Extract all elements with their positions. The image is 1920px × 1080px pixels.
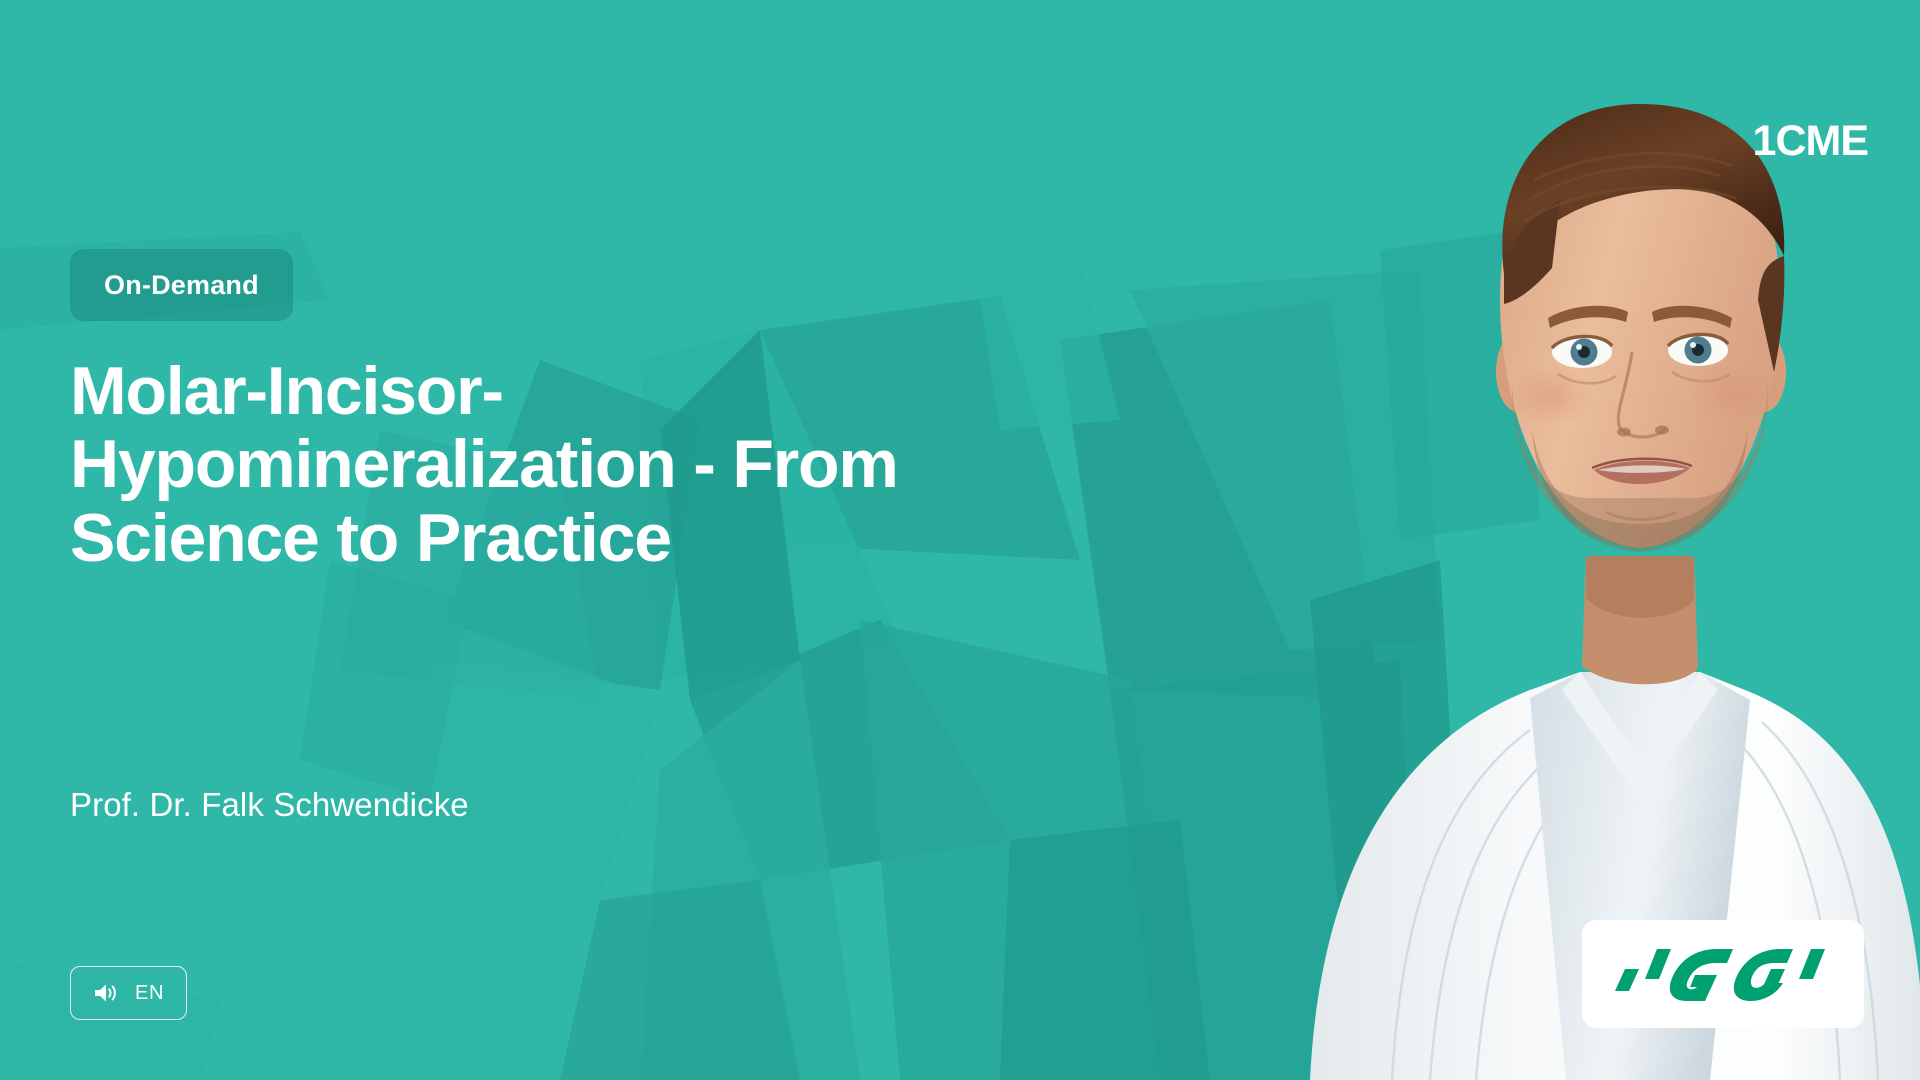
title-line-1: Molar-Incisor- <box>70 355 1130 428</box>
language-selector[interactable]: EN <box>70 966 187 1020</box>
on-demand-badge[interactable]: On-Demand <box>70 249 293 321</box>
language-code-label: EN <box>135 982 164 1005</box>
gc-logo-mark <box>1609 939 1837 1009</box>
title-line-3: Science to Practice <box>70 502 1130 575</box>
title-line-2: Hypomineralization - From <box>70 428 1130 501</box>
speaker-name: Prof. Dr. Falk Schwendicke <box>70 786 469 824</box>
on-demand-badge-label: On-Demand <box>104 270 259 301</box>
speaker-volume-icon <box>93 981 119 1005</box>
page-title: Molar-Incisor- Hypomineralization - From… <box>70 355 1130 575</box>
brand-wordmark-1cme: 1CME <box>1753 117 1868 166</box>
promo-banner: 1CME <box>0 0 1920 1080</box>
sponsor-logo-gc[interactable] <box>1582 920 1864 1028</box>
